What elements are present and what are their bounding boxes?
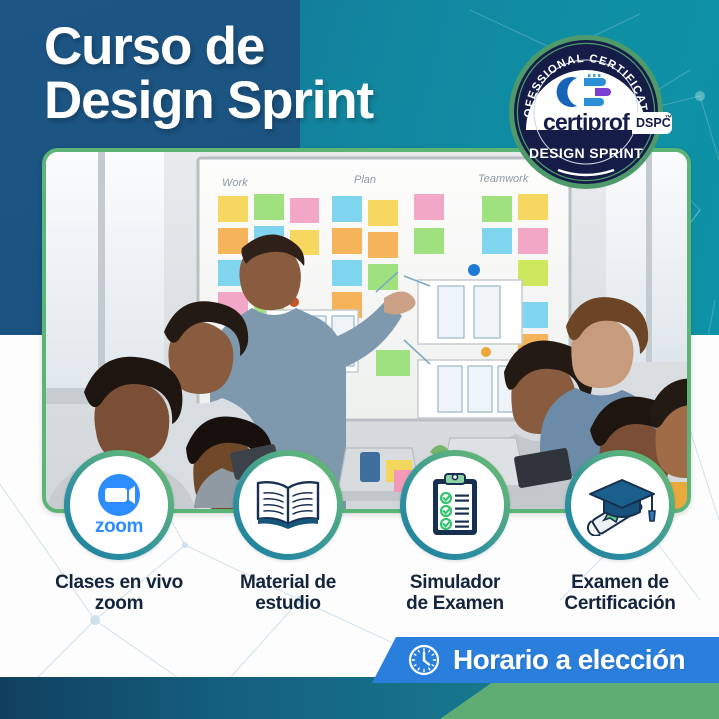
feature-label-line-2: estudio <box>255 593 320 614</box>
badge-banner-text: DESIGN SPRINT <box>529 145 643 161</box>
badge-code-trademark: ™ <box>665 115 672 122</box>
badge-code-tag: DSPC ™ <box>632 112 672 134</box>
feature-label-line-2: Certificación <box>564 593 675 614</box>
feature-label: Examen de Certificación <box>536 572 704 615</box>
feature-label-line-1: Material de <box>240 572 336 593</box>
feature-item-simulador-de-examen[interactable]: Simulador de Examen <box>371 450 539 615</box>
svg-text:Work: Work <box>222 177 248 189</box>
feature-item-examen-de-certificacion[interactable]: Examen de Certificación <box>536 450 704 615</box>
feature-item-material-de-estudio[interactable]: Material de estudio <box>204 450 372 615</box>
schedule-banner-text: Horario a elección <box>453 644 685 676</box>
feature-label-line-2: zoom <box>95 593 143 614</box>
title-line-2: Design Sprint <box>44 74 514 128</box>
feature-label: Material de estudio <box>204 572 372 615</box>
promo-poster: Curso de Design Sprint <box>0 0 719 719</box>
feature-list: zoom Clases en vivo zoom <box>0 450 719 615</box>
clipboard-checklist-icon <box>426 472 484 538</box>
feature-label-line-1: Examen de <box>571 572 669 593</box>
page-title: Curso de Design Sprint <box>44 20 514 128</box>
footer-bar <box>0 677 719 719</box>
zoom-camera-icon: zoom <box>82 474 156 536</box>
clock-icon <box>408 644 440 676</box>
schedule-banner[interactable]: Horario a elección <box>372 637 719 683</box>
feature-label: Simulador de Examen <box>371 572 539 615</box>
svg-text:Plan: Plan <box>354 174 376 186</box>
feature-item-clases-en-vivo[interactable]: zoom Clases en vivo zoom <box>35 450 203 615</box>
feature-icon-ring <box>565 450 675 560</box>
feature-icon-ring <box>233 450 343 560</box>
feature-label: Clases en vivo zoom <box>35 572 203 615</box>
footer-bar-dark <box>0 677 500 719</box>
feature-label-line-1: Simulador <box>410 572 500 593</box>
certification-badge-graphic: PROFESSIONAL CERTIFICATION certiprof ® <box>508 34 664 190</box>
certiprof-wordmark: certiprof <box>543 109 630 135</box>
zoom-wordmark: zoom <box>95 516 143 536</box>
title-line-1: Curso de <box>44 17 264 76</box>
certification-badge: PROFESSIONAL CERTIFICATION certiprof ® <box>508 34 664 190</box>
feature-label-line-2: de Examen <box>406 593 504 614</box>
graduation-cap-diploma-icon <box>584 474 656 536</box>
open-book-icon <box>253 476 323 534</box>
feature-icon-ring <box>400 450 510 560</box>
feature-icon-ring: zoom <box>64 450 174 560</box>
feature-label-line-1: Clases en vivo <box>55 572 183 593</box>
